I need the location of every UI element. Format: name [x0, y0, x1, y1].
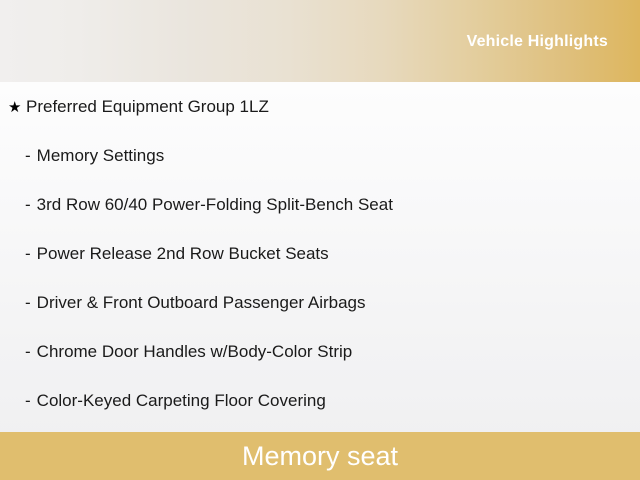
list-item: - Chrome Door Handles w/Body-Color Strip	[0, 327, 640, 376]
list-item-label: Color-Keyed Carpeting Floor Covering	[37, 376, 326, 425]
list-item: ★ Preferred Equipment Group 1LZ	[0, 82, 640, 131]
dash-icon: -	[25, 131, 31, 180]
list-item: - Driver & Front Outboard Passenger Airb…	[0, 278, 640, 327]
list-item-label: Chrome Door Handles w/Body-Color Strip	[37, 327, 353, 376]
vehicle-highlights-page: Vehicle Highlights ★ Preferred Equipment…	[0, 0, 640, 480]
list-item-label: Preferred Equipment Group 1LZ	[26, 82, 269, 131]
dash-icon: -	[25, 229, 31, 278]
star-icon: ★	[8, 83, 26, 132]
list-item: - Power Release 2nd Row Bucket Seats	[0, 229, 640, 278]
caption-text: Memory seat	[242, 432, 398, 480]
dash-icon: -	[25, 278, 31, 327]
list-item: - Color-Keyed Carpeting Floor Covering	[0, 376, 640, 425]
header-banner: Vehicle Highlights	[0, 0, 640, 82]
dash-icon: -	[25, 327, 31, 376]
dash-icon: -	[25, 180, 31, 229]
highlights-content: ★ Preferred Equipment Group 1LZ - Memory…	[0, 82, 640, 432]
page-title: Vehicle Highlights	[467, 33, 640, 51]
list-item: - Memory Settings	[0, 131, 640, 180]
list-item-label: 3rd Row 60/40 Power-Folding Split-Bench …	[37, 180, 393, 229]
highlights-list: ★ Preferred Equipment Group 1LZ - Memory…	[0, 82, 640, 425]
list-item-label: Driver & Front Outboard Passenger Airbag…	[37, 278, 366, 327]
list-item-label: Power Release 2nd Row Bucket Seats	[37, 229, 329, 278]
list-item: - 3rd Row 60/40 Power-Folding Split-Benc…	[0, 180, 640, 229]
dash-icon: -	[25, 376, 31, 425]
list-item-label: Memory Settings	[37, 131, 165, 180]
caption-bar: Memory seat	[0, 432, 640, 480]
